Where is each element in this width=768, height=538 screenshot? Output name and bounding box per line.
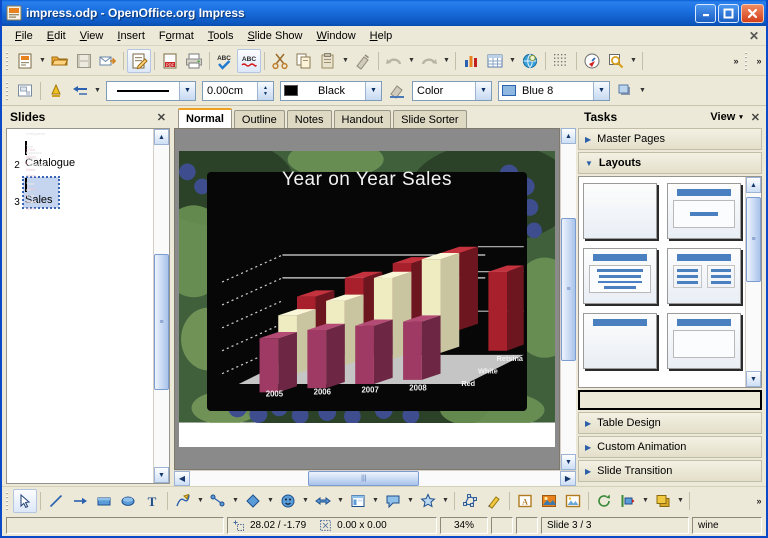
x-label-2006: 2006 [314,387,332,396]
scroll-right-icon[interactable]: ▶ [560,471,576,486]
x-label-2007: 2007 [362,385,379,394]
chevron-right-icon: ▶ [585,135,591,144]
helplines-icon[interactable] [580,49,604,73]
layouts-panel: ▲ ≡ ▼ [578,176,762,388]
title-bar: impress.odp - OpenOffice.org Impress [2,0,766,26]
section-master-pages[interactable]: ▶ Master Pages [578,128,762,150]
toolbar-separator [455,52,456,70]
impress-document-icon [6,5,22,21]
layout-content-box [673,330,735,358]
open-document-icon[interactable] [48,49,72,73]
undo-icon[interactable] [382,49,406,73]
edit-file-icon[interactable] [127,49,151,73]
menu-edit[interactable]: Edit [40,28,73,44]
status-bar: 28.02 / -1.79 0.00 x 0.00 34% Slide 3 / … [2,514,766,536]
display-grid-icon[interactable] [549,49,573,73]
stars-shapes-icon[interactable] [416,489,440,513]
layout-title-bar [593,254,646,261]
tab-normal[interactable]: Normal [178,108,232,128]
close-button[interactable] [741,4,764,23]
menu-bar: FFileile Edit View Insert Format Tools S… [2,26,766,46]
layout-title-bar [677,319,730,326]
status-selection-info [6,517,224,534]
slides-pane: Slides ✕ [2,106,172,486]
chevron-right-icon: ▶ [585,443,591,452]
bar-group-2005-retsina [260,332,297,392]
x-label-2005: 2005 [266,389,284,398]
section-label: Table Design [597,417,661,429]
fill-color-value[interactable]: Blue 8 [516,85,593,97]
standard-toolbar-overflow-2[interactable]: » [752,56,766,66]
scroll-up-icon[interactable]: ▲ [746,177,761,193]
toolbar-separator [209,52,210,70]
tasks-pane-header: Tasks View ▾ ✕ [576,106,766,128]
scroll-up-icon[interactable]: ▲ [561,128,576,144]
send-document-as-email-icon[interactable] [96,49,120,73]
arrow-style-icon[interactable] [68,79,92,103]
list-item[interactable]: 3 Year on Year Sales [11,177,153,208]
scrollbar-thumb[interactable]: ≡ [746,197,761,282]
size-icon [320,520,331,531]
slides-list[interactable]: Fine wines from Bockshead Vineyards Titl… [7,129,153,483]
new-document-dropdown[interactable]: ▼ [37,49,48,73]
tab-notes[interactable]: Notes [287,110,332,128]
thumbnail-bullets: Red Wines White Wines Rosés Sweet Wines [26,147,27,155]
section-custom-animation[interactable]: ▶ Custom Animation [578,436,762,458]
new-document-icon[interactable] [13,49,37,73]
scrollbar-track[interactable]: ≡ [561,144,576,454]
curve-icon[interactable] [171,489,195,513]
block-arrows-dropdown[interactable]: ▼ [335,489,346,513]
layout-two-columns [673,265,735,288]
series-label-retsina: Retsina [497,354,524,363]
ellipse-icon[interactable] [116,489,140,513]
slides-scrollbar[interactable]: ▲ ≡ ▼ [153,129,169,483]
bar-group-back-red [489,265,524,350]
fill-color-swatch [502,85,516,96]
slide-surface[interactable]: Year on Year Sales [179,151,555,447]
position-icon [233,520,244,531]
menu-file[interactable]: FFileile [8,28,40,44]
line-endpoint-icon[interactable] [44,79,68,103]
glue-points-icon[interactable] [482,489,506,513]
canvas-horizontal-scrollbar[interactable]: ◀ ||| ▶ [174,470,576,486]
toolbar-separator [264,52,265,70]
chevron-down-icon: ▼ [585,159,593,168]
fontwork-gallery-icon[interactable]: A [513,489,537,513]
flowchart-shapes-icon[interactable] [346,489,370,513]
area-style-icon[interactable] [385,79,409,103]
cut-icon[interactable] [268,49,292,73]
area-style-dropdown-button[interactable]: ▼ [475,82,491,100]
clone-formatting-icon[interactable] [351,49,375,73]
section-label: Slide Transition [597,465,672,477]
text-box-icon[interactable]: T [140,489,164,513]
scrollbar-thumb[interactable]: ≡ [154,254,169,389]
slide-thumbnail[interactable]: The Kapaloa Wines Catalogue Red Wines Wh… [23,140,81,171]
window-title: impress.odp - OpenOffice.org Impress [26,6,695,20]
toolbar-separator [378,52,379,70]
scroll-down-icon[interactable]: ▼ [746,371,761,387]
scrollbar-track[interactable]: ≡ [746,193,761,371]
copy-icon[interactable] [292,49,316,73]
callout-shapes-icon[interactable] [381,489,405,513]
slide-editor: Normal Outline Notes Handout Slide Sorte… [172,106,576,486]
slide-properties-icon[interactable] [13,79,37,103]
scroll-down-icon[interactable]: ▼ [561,454,576,470]
chevron-right-icon: ▶ [585,419,591,428]
close-document-icon[interactable]: ✕ [748,29,766,43]
spelling-check-icon[interactable]: ABC [213,49,237,73]
title-only-layout[interactable] [583,313,657,369]
toolbar-grip[interactable] [4,490,11,512]
line-style-combo[interactable]: ▼ [106,81,196,101]
drawing-toolbar-overflow[interactable]: » [752,496,766,506]
slide-canvas[interactable]: Year on Year Sales [174,128,560,470]
thumbnail-image: Year on Year Sales [25,178,27,192]
area-style-combo[interactable]: Color ▼ [412,81,492,101]
insert-table-icon[interactable] [483,49,507,73]
svg-text:A: A [522,497,528,506]
layout-bullet-box [589,265,651,293]
section-layouts[interactable]: ▼ Layouts [578,152,762,174]
zoom-icon[interactable] [604,49,628,73]
paste-icon[interactable] [316,49,340,73]
menu-insert[interactable]: Insert [110,28,152,44]
status-modified-indicator [491,517,513,534]
title-two-content-layout[interactable] [667,248,741,304]
section-label: Master Pages [597,133,665,145]
line-style-preview [117,90,169,92]
slide-number: 3 [11,177,23,208]
title-content-box-layout[interactable] [667,313,741,369]
standard-toolbar: ▼ PDF ABC ABC [2,46,766,76]
object-size-value: 0.00 x 0.00 [337,520,386,531]
tasks-sections: ▶ Master Pages ▼ Layouts [578,128,762,484]
toolbar-separator [509,492,510,510]
slide-title[interactable]: Year on Year Sales [179,169,555,191]
toolbar-separator [642,52,643,70]
minimize-button[interactable] [695,4,716,23]
arrange-icon[interactable] [651,489,675,513]
flowchart-shapes-dropdown[interactable]: ▼ [370,489,381,513]
connector-dropdown[interactable]: ▼ [230,489,241,513]
section-slide-transition[interactable]: ▶ Slide Transition [578,460,762,482]
list-item[interactable]: 2 The Kapaloa Wines Catalogue [11,140,153,171]
scrollbar-thumb[interactable]: ||| [308,471,419,486]
svg-text:T: T [148,494,157,509]
bar-group-2008-retsina [403,315,440,379]
svg-text:ABC: ABC [242,56,257,63]
canvas-area: Year on Year Sales [174,128,576,470]
insert-table-dropdown[interactable]: ▼ [507,49,518,73]
drawing-toolbar: T ▼ ▼ ▼ ▼ ▼ ▼ ▼ ▼ [2,486,766,514]
menu-format[interactable]: Format [152,28,201,44]
scrollbar-thumb[interactable]: ≡ [561,218,576,361]
toolbar-grip[interactable] [4,80,11,102]
line-color-swatch [284,85,298,96]
list-item[interactable]: Fine wines from Bockshead Vineyards Titl… [11,129,153,134]
autospellcheck-icon[interactable]: ABC [237,49,261,73]
canvas-vertical-scrollbar[interactable]: ▲ ≡ ▼ [560,128,576,470]
maximize-button[interactable] [718,4,739,23]
undo-dropdown[interactable]: ▼ [406,49,417,73]
tasks-pane-title: Tasks [584,110,617,124]
block-arrows-icon[interactable] [311,489,335,513]
status-slide-counter: Slide 3 / 3 [541,517,689,534]
layout-title-bar [593,319,646,326]
stars-shapes-dropdown[interactable]: ▼ [440,489,451,513]
points-icon[interactable] [458,489,482,513]
toolbar-separator [40,82,41,100]
impress-window: impress.odp - OpenOffice.org Impress FFi… [0,0,768,538]
menu-help[interactable]: Help [363,28,400,44]
line-color-combo[interactable]: Black ▼ [280,81,382,101]
cursor-position-value: 28.02 / -1.79 [250,520,306,531]
line-color-dropdown-button[interactable]: ▼ [365,82,381,100]
title-content-layout[interactable] [667,183,741,239]
chevron-down-icon[interactable]: ▾ [739,113,749,121]
section-label: Custom Animation [597,441,686,453]
tab-slide-sorter[interactable]: Slide Sorter [393,110,466,128]
scroll-down-icon[interactable]: ▼ [154,467,169,483]
menu-window[interactable]: Window [310,28,363,44]
fill-color-dropdown-button[interactable]: ▼ [593,82,609,100]
area-style-value[interactable]: Color [413,85,475,97]
select-icon[interactable] [13,489,37,513]
layouts-grid [579,177,745,387]
status-position-size: 28.02 / -1.79 0.00 x 0.00 [227,517,437,534]
series-label-white: White [478,367,498,376]
toolbar-separator [40,492,41,510]
bar-chart-3d[interactable]: 2005 2006 2007 2008 Red White Retsina [220,228,532,400]
x-label-2008: 2008 [410,383,428,392]
tab-outline[interactable]: Outline [234,110,285,128]
zoom-dropdown[interactable]: ▼ [628,49,639,73]
rotate-icon[interactable] [592,489,616,513]
bar-group-2006-retsina [308,324,345,388]
print-file-icon[interactable] [182,49,206,73]
line-ends-with-arrow-icon[interactable] [68,489,92,513]
line-and-filling-toolbar: ▼ ▼ 0.00cm ▲▼ Black ▼ Color ▼ Blue 8 ▼ [2,76,766,106]
layouts-scrollbar[interactable]: ▲ ≡ ▼ [745,177,761,387]
connector-icon[interactable] [206,489,230,513]
hyperlink-icon[interactable] [518,49,542,73]
svg-text:PDF: PDF [166,62,175,67]
insert-chart-icon[interactable] [459,49,483,73]
menu-tools[interactable]: Tools [201,28,241,44]
save-document-icon[interactable] [72,49,96,73]
scrollbar-track[interactable]: ||| [190,471,560,486]
toolbar-separator [576,52,577,70]
section-table-design[interactable]: ▶ Table Design [578,412,762,434]
toolbar-separator [689,492,690,510]
line-width-value[interactable]: 0.00cm [203,85,257,97]
tasks-view-button[interactable]: View [710,111,739,123]
export-pdf-icon[interactable]: PDF [158,49,182,73]
layout-title-bar [677,189,730,196]
arrow-style-dropdown[interactable]: ▼ [92,79,103,103]
toolbar-separator [545,52,546,70]
workspace: Slides ✕ [2,106,766,486]
scrollbar-track[interactable]: ≡ [154,145,169,467]
chevron-right-icon: ▶ [585,467,591,476]
toolbar-separator [167,492,168,510]
fill-color-combo[interactable]: Blue 8 ▼ [498,81,610,101]
scroll-left-icon[interactable]: ◀ [174,471,190,486]
alignment-dropdown[interactable]: ▼ [640,489,651,513]
line-icon[interactable] [44,489,68,513]
line-color-value[interactable]: Black [298,85,365,97]
close-icon[interactable]: ✕ [749,111,762,124]
line-width-stepper[interactable]: ▲▼ [257,82,273,100]
slides-list-container: Fine wines from Bockshead Vineyards Titl… [6,128,170,484]
slide-thumbnail-selected[interactable]: Year on Year Sales [23,177,59,208]
bar-group-2007-retsina [356,319,393,383]
toolbar-separator [123,52,124,70]
redo-dropdown[interactable]: ▼ [441,49,452,73]
line-style-dropdown-button[interactable]: ▼ [179,82,195,100]
slides-pane-title: Slides [10,110,45,124]
tab-handout[interactable]: Handout [334,110,392,128]
close-icon[interactable]: ✕ [155,111,168,124]
line-width-spinner[interactable]: 0.00cm ▲▼ [202,81,274,101]
basic-shapes-icon[interactable] [241,489,265,513]
symbol-shapes-icon[interactable] [276,489,300,513]
toolbar-separator [454,492,455,510]
symbol-shapes-dropdown[interactable]: ▼ [300,489,311,513]
arrange-dropdown[interactable]: ▼ [675,489,686,513]
gallery-icon[interactable] [561,489,585,513]
paste-dropdown[interactable]: ▼ [340,49,351,73]
layout-content-box [673,200,735,228]
toolbar-separator [588,492,589,510]
slide-number: 2 [11,140,23,171]
series-label-red: Red [462,379,476,388]
tasks-pane: Tasks View ▾ ✕ ▶ Master Pages ▼ Layouts [576,106,766,486]
standard-toolbar-overflow[interactable]: » [729,56,743,66]
window-controls [695,4,764,23]
layouts-bottom-field[interactable] [578,390,762,410]
slide-thumbnail[interactable]: Fine wines from Bockshead Vineyards Titl… [23,129,79,134]
layout-title-bar [677,254,730,261]
toolbar-grip-right[interactable] [743,50,750,72]
rectangle-icon[interactable] [92,489,116,513]
view-tabs: Normal Outline Notes Handout Slide Sorte… [174,106,576,128]
basic-shapes-dropdown[interactable]: ▼ [265,489,276,513]
thumbnail-image: The Kapaloa Wines Catalogue Red Wines Wh… [25,141,27,155]
title-bullets-layout[interactable] [583,248,657,304]
alignment-icon[interactable] [616,489,640,513]
status-signature-indicator [516,517,538,534]
toolbar-grip[interactable] [4,50,11,72]
from-file-icon[interactable] [537,489,561,513]
shadow-icon[interactable] [613,79,637,103]
status-master-name: wine [692,517,762,534]
menu-view[interactable]: View [73,28,111,44]
menu-slide-show[interactable]: Slide Show [240,28,309,44]
slides-pane-header: Slides ✕ [2,106,172,128]
status-zoom[interactable]: 34% [440,517,488,534]
curve-dropdown[interactable]: ▼ [195,489,206,513]
scroll-up-icon[interactable]: ▲ [154,129,169,145]
section-label: Layouts [599,157,641,169]
callout-shapes-dropdown[interactable]: ▼ [405,489,416,513]
blank-slide-layout[interactable] [583,183,657,239]
redo-icon[interactable] [417,49,441,73]
toolbar-separator [154,52,155,70]
line-fill-toolbar-more[interactable]: ▼ [637,79,648,103]
